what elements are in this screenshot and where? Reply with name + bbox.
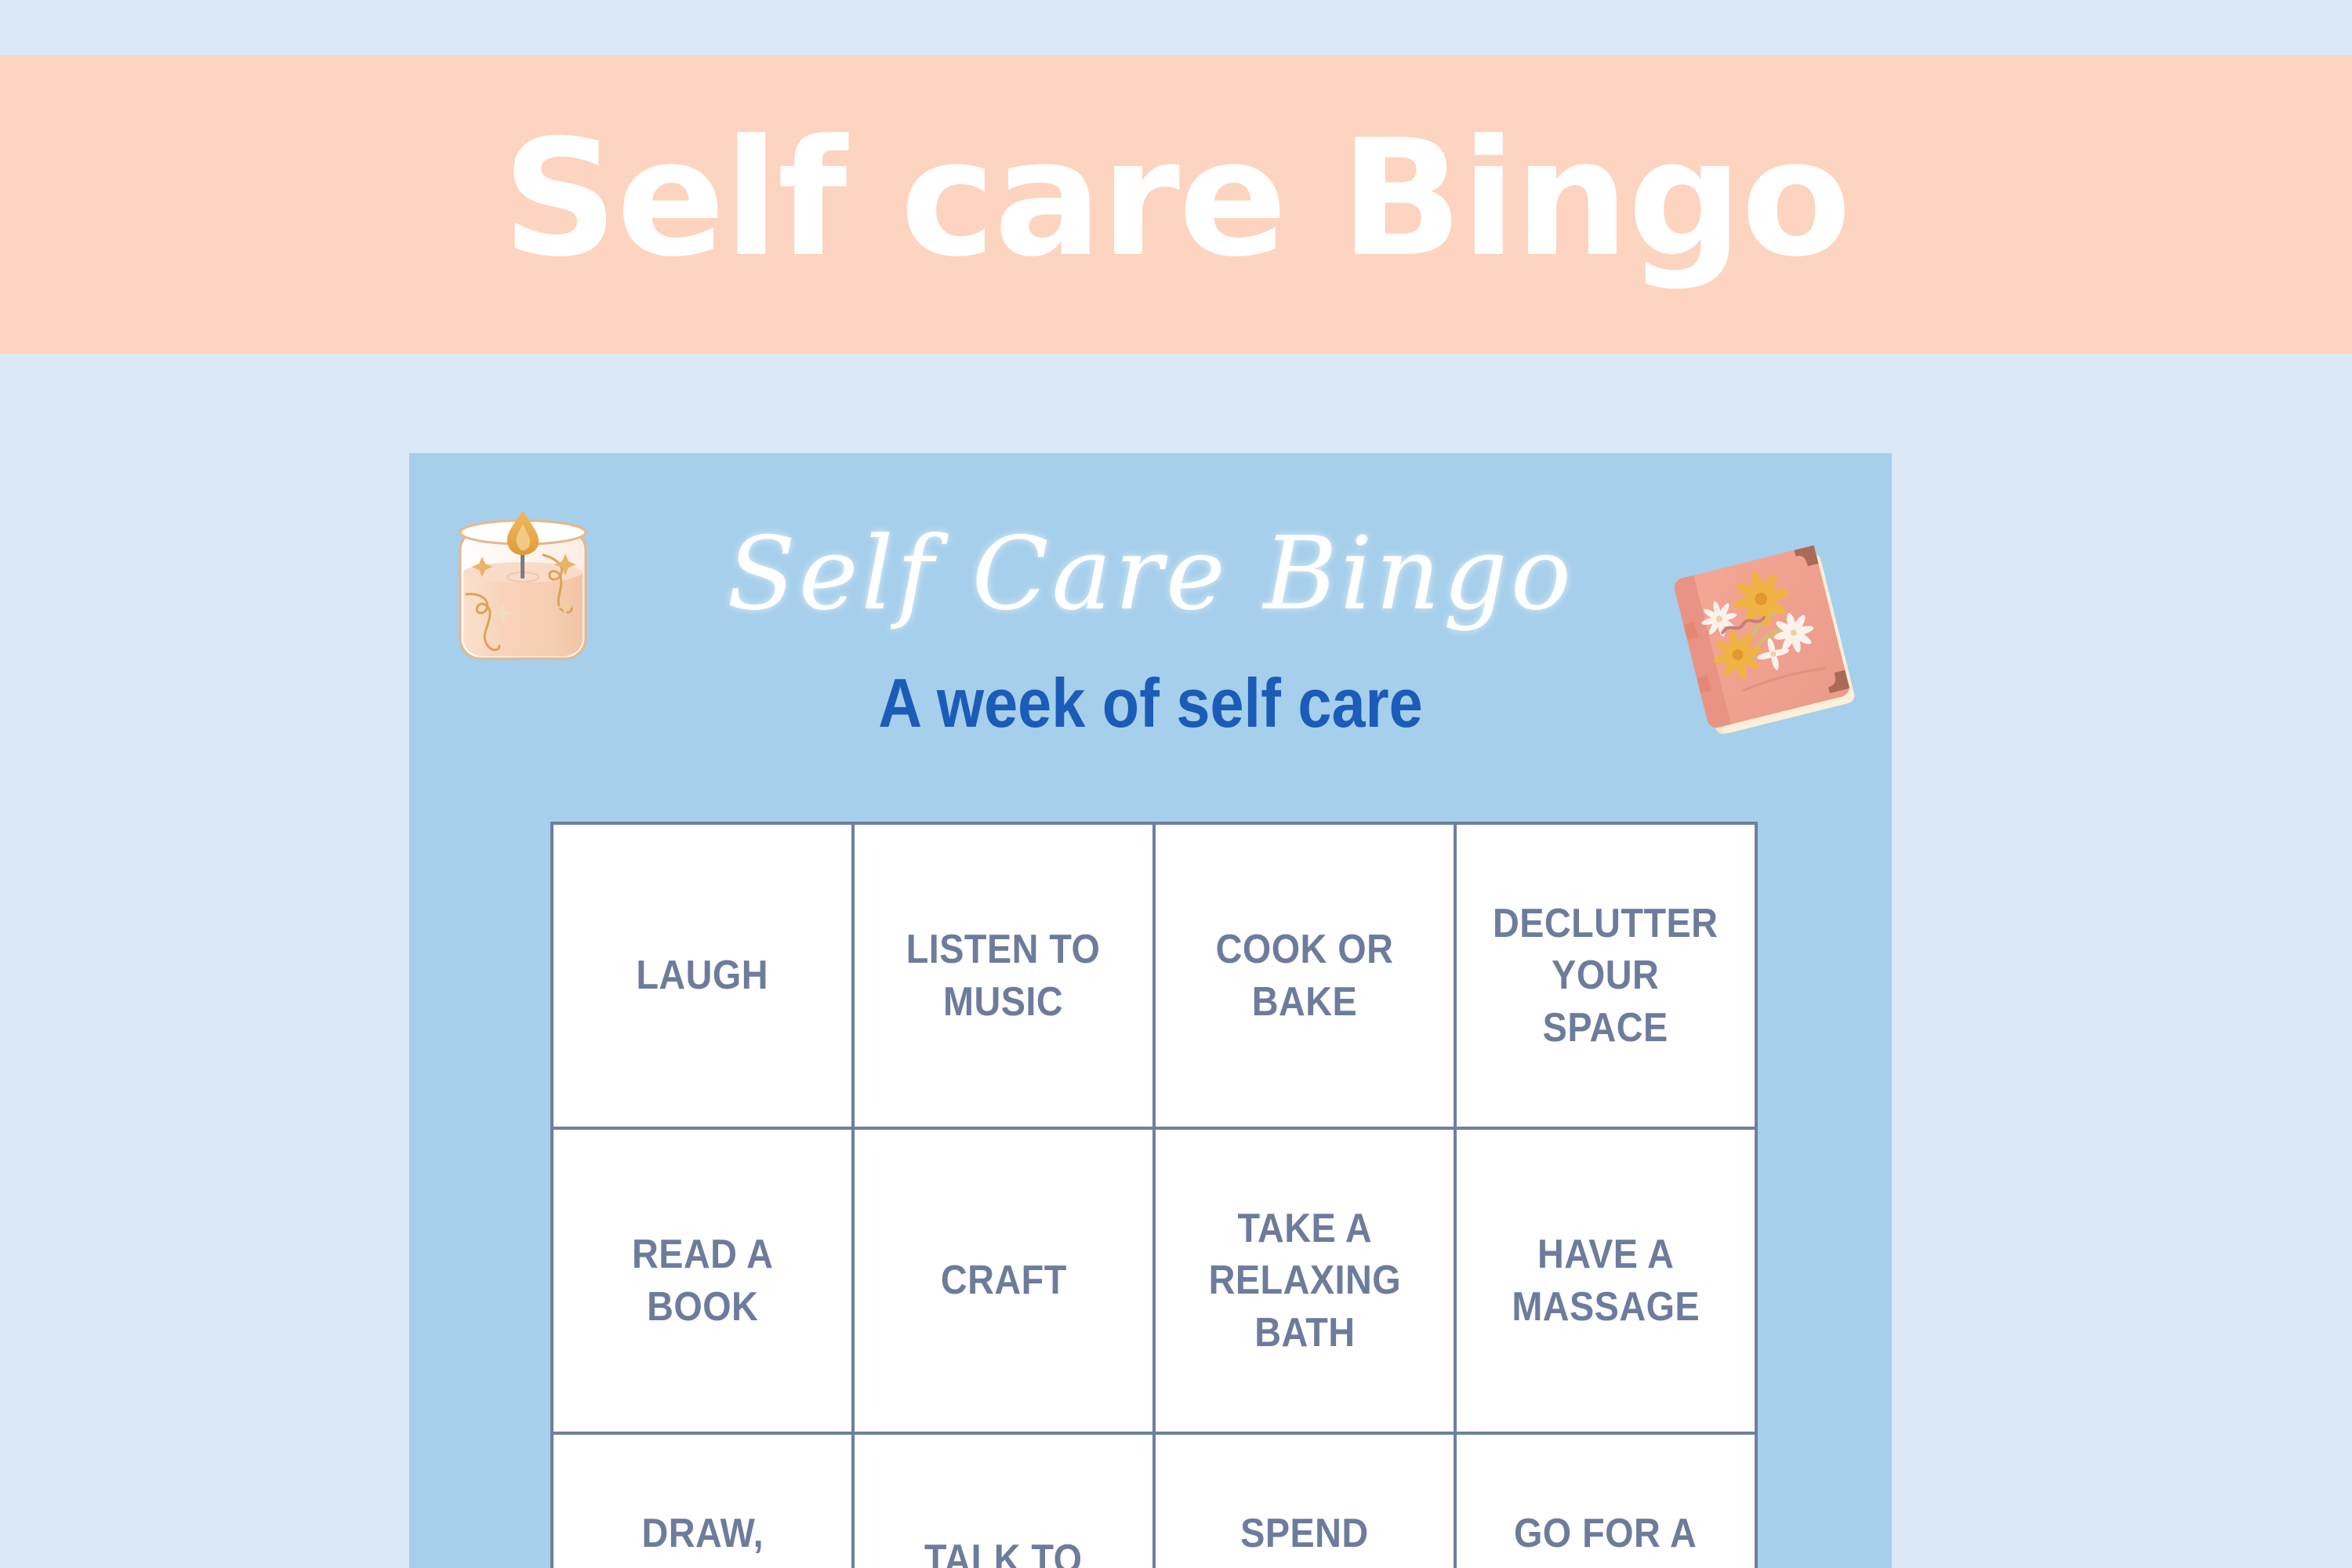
- bingo-card-title: Self Care Bingo: [409, 522, 1892, 627]
- bingo-cell[interactable]: DRAW, PAINT OR COLOUR: [554, 1435, 851, 1568]
- bingo-card-subtitle: A week of self care: [498, 669, 1802, 738]
- bingo-cell[interactable]: HAVE A MASSAGE: [1457, 1130, 1755, 1432]
- bingo-grid: LAUGH LISTEN TO MUSIC COOK OR BAKE DECLU…: [550, 822, 1758, 1568]
- bingo-cell-label: HAVE A MASSAGE: [1512, 1229, 1700, 1333]
- bingo-cell[interactable]: LAUGH: [554, 825, 851, 1127]
- bingo-cell[interactable]: READ A BOOK: [554, 1130, 851, 1432]
- bingo-cell-label: TALK TO SOMEONE: [909, 1534, 1098, 1568]
- page-title: Self care Bingo: [503, 119, 1850, 280]
- bingo-card-header: Self Care Bingo A week of self care: [409, 453, 1892, 822]
- bingo-cell[interactable]: COOK OR BAKE: [1156, 825, 1454, 1127]
- bingo-cell[interactable]: CRAFT: [855, 1130, 1152, 1432]
- page-header-banner: Self care Bingo: [0, 55, 2352, 354]
- bingo-cell[interactable]: TALK TO SOMEONE: [855, 1435, 1152, 1568]
- bingo-cell-label: GO FOR A WALK OR RUN: [1514, 1508, 1697, 1568]
- bingo-cell-label: CRAFT: [941, 1254, 1067, 1307]
- bingo-cell-label: SPEND TIME IN NATURE: [1229, 1508, 1381, 1568]
- bingo-cell-label: DRAW, PAINT OR COLOUR: [615, 1508, 790, 1568]
- bingo-cell-label: LAUGH: [637, 949, 769, 1002]
- bingo-cell-label: TAKE A RELAXING BATH: [1208, 1203, 1400, 1359]
- bingo-cell-label: COOK OR BAKE: [1216, 924, 1394, 1028]
- bingo-cell-label: DECLUTTER YOUR SPACE: [1493, 898, 1718, 1054]
- bingo-card: Self Care Bingo A week of self care LAUG…: [409, 453, 1892, 1568]
- bingo-cell-label: READ A BOOK: [632, 1229, 773, 1333]
- bingo-cell[interactable]: GO FOR A WALK OR RUN: [1457, 1435, 1755, 1568]
- self-care-bingo-page: Self care Bingo: [0, 0, 2352, 1568]
- bingo-cell[interactable]: DECLUTTER YOUR SPACE: [1457, 825, 1755, 1127]
- bingo-cell[interactable]: LISTEN TO MUSIC: [855, 825, 1152, 1127]
- bingo-cell[interactable]: TAKE A RELAXING BATH: [1156, 1130, 1454, 1432]
- bingo-cell-label: LISTEN TO MUSIC: [906, 924, 1101, 1028]
- bingo-cell[interactable]: SPEND TIME IN NATURE: [1156, 1435, 1454, 1568]
